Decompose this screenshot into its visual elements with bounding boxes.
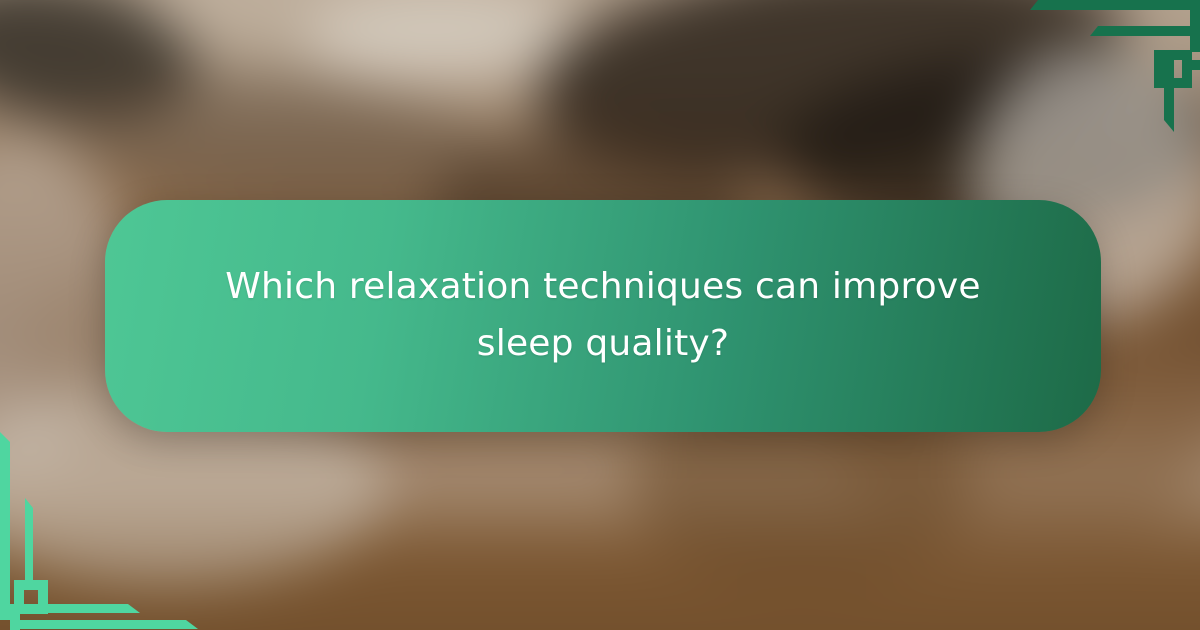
headline-card: Which relaxation techniques can improve …: [105, 200, 1101, 432]
share-card-canvas: Which relaxation techniques can improve …: [0, 0, 1200, 630]
card-question-text: Which relaxation techniques can improve …: [223, 259, 983, 373]
